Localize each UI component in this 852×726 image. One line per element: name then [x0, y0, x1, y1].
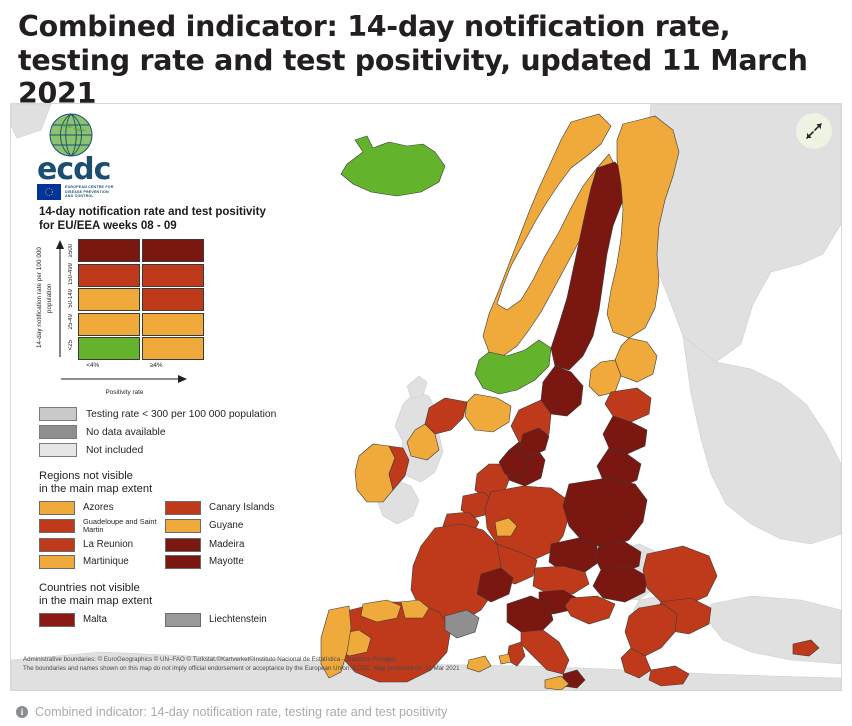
legend-item-label: Testing rate < 300 per 100 000 populatio… [86, 409, 276, 420]
caption-bar: i Combined indicator: 14-day notificatio… [0, 697, 852, 726]
legend-item-label: Madeira [209, 540, 244, 550]
regions-title-line-2: in the main map extent [39, 483, 325, 496]
legend-heading: 14-day notification rate and test positi… [39, 206, 325, 233]
legend-swatch [39, 538, 75, 552]
legend-item: Testing rate < 300 per 100 000 populatio… [39, 407, 325, 421]
legend-item: Canary Islands [165, 501, 291, 515]
matrix-cell [142, 239, 204, 262]
matrix-x-tick-label: ≥4% [125, 362, 189, 369]
attribution-line-2: The boundaries and names shown on this m… [23, 665, 583, 674]
legend-swatch [39, 555, 75, 569]
eu-flag-icon [37, 184, 61, 200]
matrix-cell [78, 313, 140, 336]
matrix-y-tick: 50-149 [65, 286, 77, 310]
matrix-cell [78, 288, 140, 311]
countries-legend-title: Countries not visible in the main map ex… [39, 582, 325, 608]
matrix-x-axis-label: Positivity rate [61, 389, 188, 396]
risk-matrix-legend: 14-day notification rate per 100 000 pop… [35, 239, 325, 360]
legend-item-label: Mayotte [209, 557, 244, 567]
matrix-cell [142, 264, 204, 287]
ecdc-full-name: EUROPEAN CENTRE FOR DISEASE PREVENTION A… [65, 185, 114, 198]
legend-swatch [165, 613, 201, 627]
info-icon[interactable]: i [16, 706, 28, 718]
legend-item: Azores [39, 501, 165, 515]
matrix-y-tick-label: 50-149 [68, 289, 74, 308]
legend-swatch [165, 519, 201, 533]
legend-item-label: No data available [86, 427, 166, 438]
ecdc-logo: ecdc EUROPEAN CENTRE FOR DISEASE PREVENT… [37, 112, 325, 200]
countries-legend-grid: Malta Liechtenstein [39, 613, 325, 627]
attribution-line-1: Administrative boundaries: © EuroGeograp… [23, 656, 583, 665]
legend-swatch [165, 555, 201, 569]
legend-item: Madeira [165, 538, 291, 552]
page-header: Combined indicator: 14-day notification … [0, 0, 852, 120]
matrix-y-tick-label: ≥500 [68, 244, 74, 257]
matrix-y-tick-label: <25 [68, 340, 74, 350]
legend-item: Guyane [165, 518, 291, 535]
legend-item: Not included [39, 443, 325, 457]
matrix-x-tick-label: <4% [61, 362, 125, 369]
legend-item-label: Martinique [83, 557, 129, 567]
page-title: Combined indicator: 14-day notification … [18, 8, 834, 111]
legend-swatch [39, 443, 77, 457]
legend-item-label: Guadeloupe and Saint Martin [83, 518, 165, 535]
ecdc-subtitle-row: EUROPEAN CENTRE FOR DISEASE PREVENTION A… [37, 184, 325, 200]
legend-item-label: Liechtenstein [209, 615, 267, 625]
legend-item-label: La Reunion [83, 540, 133, 550]
legend-item-label: Malta [83, 615, 107, 625]
countries-legend: Countries not visible in the main map ex… [25, 582, 325, 627]
legend-swatch [39, 519, 75, 533]
legend-item: No data available [39, 425, 325, 439]
legend-item: Guadeloupe and Saint Martin [39, 518, 165, 535]
regions-legend-grid: Azores Canary Islands Guadeloupe and Sai… [39, 501, 325, 569]
legend-item-label: Azores [83, 503, 114, 513]
expand-map-button[interactable] [796, 113, 832, 149]
legend-item: La Reunion [39, 538, 165, 552]
matrix-cell [78, 264, 140, 287]
matrix-y-axis-label: 14-day notification rate per 100 000 pop… [35, 239, 55, 357]
legend-swatch [165, 501, 201, 515]
map-attribution: Administrative boundaries: © EuroGeograp… [23, 656, 583, 673]
ecdc-wordmark: ecdc [37, 157, 325, 183]
matrix-y-tick-label: 150-499 [68, 263, 74, 285]
legend-item-label: Canary Islands [209, 503, 274, 513]
legend-item: Martinique [39, 555, 165, 569]
matrix-y-tick: 150-499 [65, 263, 77, 287]
map-panel[interactable]: .b { stroke:#3b3b3b; stroke-width:0.6; }… [10, 103, 842, 691]
matrix-cell [142, 337, 204, 360]
legend-swatch [39, 407, 77, 421]
regions-legend-title: Regions not visible in the main map exte… [39, 470, 325, 496]
caption-text: Combined indicator: 14-day notification … [35, 705, 447, 719]
legend-heading-line-1: 14-day notification rate and test positi… [39, 206, 325, 220]
grey-legend-list: Testing rate < 300 per 100 000 populatio… [39, 407, 325, 457]
regions-title-line-1: Regions not visible [39, 470, 325, 483]
legend-heading-line-2: for EU/EEA weeks 08 - 09 [39, 220, 325, 234]
legend-swatch [39, 425, 77, 439]
matrix-x-axis-arrow [61, 370, 325, 388]
matrix-y-ticks: ≥500 150-499 50-149 25-49 <25 [65, 239, 77, 357]
legend-item-label: Not included [86, 445, 143, 456]
legend-item-label: Guyane [209, 521, 243, 531]
matrix-y-axis-arrow [55, 239, 65, 357]
matrix-y-tick: 25-49 [65, 310, 77, 334]
matrix-cell [78, 337, 140, 360]
matrix-cell [78, 239, 140, 262]
map-legend: ecdc EUROPEAN CENTRE FOR DISEASE PREVENT… [25, 112, 325, 627]
matrix-x-ticks: <4% ≥4% [61, 362, 325, 369]
countries-title-line-2: in the main map extent [39, 595, 325, 608]
matrix-y-tick: ≥500 [65, 239, 77, 263]
matrix-cell [142, 288, 204, 311]
legend-item: Mayotte [165, 555, 291, 569]
regions-legend: Regions not visible in the main map exte… [25, 470, 325, 569]
countries-title-line-1: Countries not visible [39, 582, 325, 595]
matrix-grid [78, 239, 204, 360]
matrix-y-tick-label: 25-49 [68, 314, 74, 329]
matrix-y-tick: <25 [65, 333, 77, 357]
ecdc-name-line-3: AND CONTROL [65, 194, 114, 198]
expand-arrows-icon [804, 121, 824, 141]
matrix-cell [142, 313, 204, 336]
legend-item: Malta [39, 613, 165, 627]
legend-swatch [39, 613, 75, 627]
legend-swatch [39, 501, 75, 515]
legend-item: Liechtenstein [165, 613, 291, 627]
legend-swatch [165, 538, 201, 552]
